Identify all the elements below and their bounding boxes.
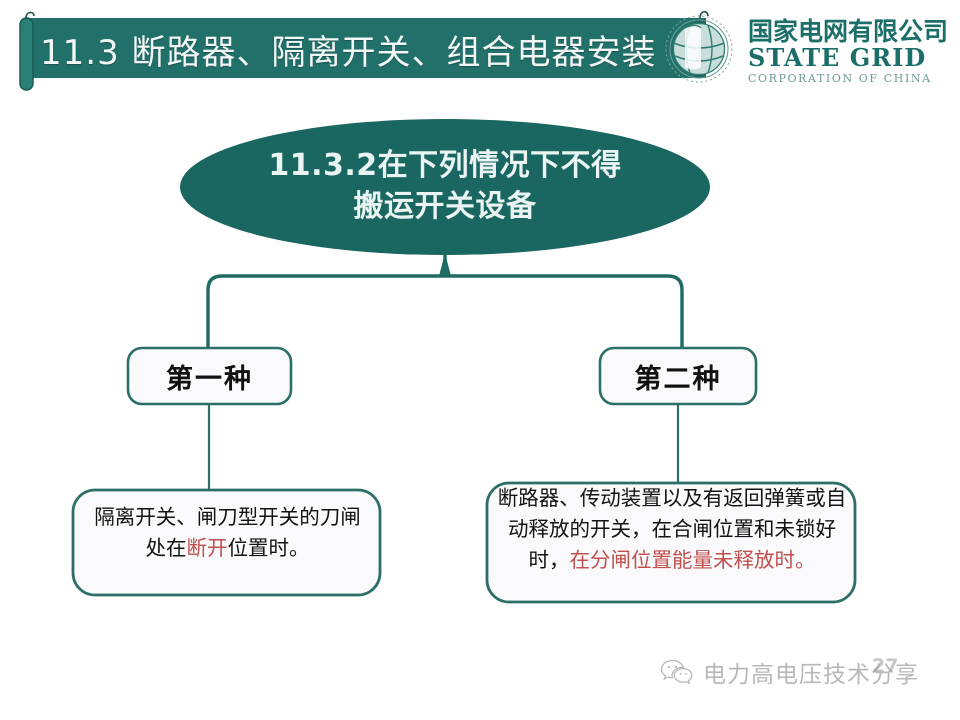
flow-diagram: 11.3.2在下列情况下不得 搬运开关设备 第一种 第二种 隔离开关、闸刀型开关…: [0, 104, 960, 664]
leaf-text-second: 断路器、传动装置以及有返回弹簧或自动释放的开关，在合闸位置和未锁好时，在分闸位置…: [496, 483, 848, 576]
root-node-label: 11.3.2在下列情况下不得 搬运开关设备: [205, 140, 685, 232]
state-grid-wordmark: 国家电网有限公司 STATE GRID CORPORATION OF CHINA: [748, 18, 958, 86]
wechat-icon: [660, 659, 694, 685]
branch-label-first: 第一种: [128, 348, 291, 404]
leaf-first-post: 位置时。: [228, 536, 310, 560]
root-label-line2: 搬运开关设备: [268, 186, 621, 227]
page-title: 11.3 断路器、隔离开关、组合电器安装: [40, 21, 700, 77]
leaf-second-highlight: 在分闸位置能量未释放时。: [570, 548, 816, 572]
logo-company-sub: CORPORATION OF CHINA: [748, 72, 958, 86]
state-grid-globe-icon: [662, 6, 736, 92]
leaf-first-highlight: 断开: [187, 536, 228, 560]
slide-canvas: 11.3 断路器、隔离开关、组合电器安装 国家电网有限公司 STATE GRID…: [0, 0, 960, 720]
connector-stem: [439, 253, 451, 276]
page-number: 27: [872, 655, 898, 677]
root-label-line1: 11.3.2在下列情况下不得: [268, 145, 621, 186]
leaf-text-first: 隔离开关、闸刀型开关的刀闸处在断开位置时。: [85, 502, 370, 564]
logo-company-cn: 国家电网有限公司: [748, 18, 958, 45]
branch-label-second: 第二种: [600, 348, 756, 404]
logo-company-en: STATE GRID: [748, 45, 958, 71]
